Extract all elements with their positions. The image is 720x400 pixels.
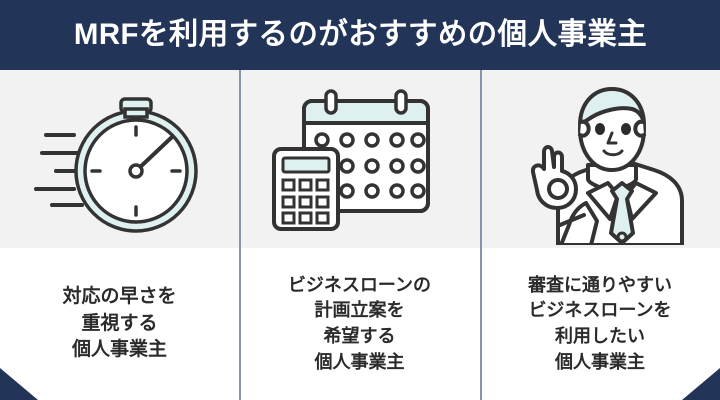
card-1-icon-area xyxy=(0,70,239,248)
corner-accent-bottom-left xyxy=(0,368,38,400)
card-1: 対応の早さを 重視する 個人事業主 xyxy=(0,70,239,400)
calendar-calculator-icon xyxy=(260,79,460,239)
card-3-label: 審査に通りやすい ビジネスローンを 利用したい 個人事業主 xyxy=(522,273,678,375)
card-2-text-area: ビジネスローンの 計画立案を 希望する 個人事業主 xyxy=(239,248,480,400)
businessman-ok-gesture-icon xyxy=(500,73,700,245)
card-divider-2 xyxy=(480,70,482,400)
card-divider-1 xyxy=(239,70,241,400)
card-3: 審査に通りやすい ビジネスローンを 利用したい 個人事業主 xyxy=(480,70,720,400)
corner-accent-bottom-right xyxy=(682,368,720,400)
card-1-label: 対応の早さを 重視する 個人事業主 xyxy=(56,284,182,365)
header-banner: MRFを利用するのがおすすめの個人事業主 xyxy=(0,0,720,70)
card-2-label: ビジネスローンの 計画立案を 希望する 個人事業主 xyxy=(282,273,437,375)
card-2: ビジネスローンの 計画立案を 希望する 個人事業主 xyxy=(239,70,480,400)
card-3-icon-area xyxy=(480,70,720,248)
card-2-icon-area xyxy=(239,70,480,248)
stopwatch-speed-icon xyxy=(20,79,220,239)
card-row: 対応の早さを 重視する 個人事業主 xyxy=(0,70,720,400)
page-title: MRFを利用するのがおすすめの個人事業主 xyxy=(73,20,646,50)
infographic-root: MRFを利用するのがおすすめの個人事業主 xyxy=(0,0,720,400)
